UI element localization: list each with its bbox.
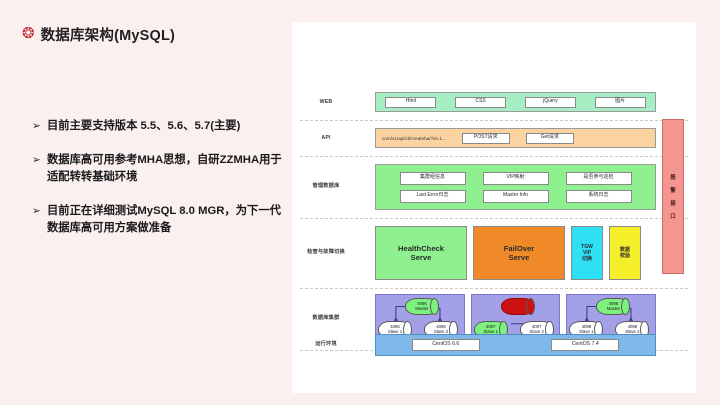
arrow-bullet-icon: ➢ (32, 203, 47, 219)
admin-db-layer-band: 集群组信息 VIP映射 是否参与巡检 Last Error日志 Master I… (375, 164, 656, 210)
service-box-data-validation: 数据 校验 (609, 226, 641, 280)
diagram-row-web: WEB Html CSS jQuery 图片 (292, 92, 696, 112)
arrow-bullet-icon: ➢ (32, 118, 47, 134)
admin-chip-system-log: 系统日志 (566, 190, 632, 203)
diagram-row-runtime-env: 运行环境 CentOS 6.6 CentOS 7.4 (292, 334, 696, 356)
row-divider (300, 288, 688, 289)
list-item: ➢ 目前主要支持版本 5.5、5.6、5.7(主要) (32, 118, 282, 135)
alarm-interface-bar: 报 警 接 口 (662, 119, 684, 274)
alarm-bar-char: 警 (670, 186, 675, 194)
admin-chip-last-error-log: Last Error日志 (400, 190, 466, 203)
arrow-bullet-icon: ➢ (32, 152, 47, 168)
service-label-line2: Serve (509, 253, 530, 262)
row-divider (300, 120, 688, 121)
row-label-db-cluster: 数据库集群 (302, 314, 350, 321)
diagram-row-check-failover: 检查与故障切换 HealthCheck Serve FailOver Serve… (292, 226, 696, 280)
red-flower-bullet-icon: ❂ (22, 26, 35, 41)
service-label-line3: 切换 (582, 256, 592, 262)
list-item: ➢ 数据库高可用参考MHA思想，自研ZZMHA用于适配转转基础环境 (32, 152, 282, 186)
db-node-role: Master (607, 307, 620, 312)
db-node-master: 4096 Master (405, 298, 439, 315)
web-layer-band: Html CSS jQuery 图片 (375, 92, 656, 112)
page-title-text: 数据库架构(MySQL) (41, 24, 176, 45)
row-label-check-failover: 检查与故障切换 (302, 248, 350, 255)
service-box-tgw-vip-switch: TGW VIP 切换 (571, 226, 603, 280)
admin-chip-cluster-info: 集群组信息 (400, 172, 466, 185)
row-label-web: WEB (302, 99, 350, 105)
admin-chip-master-info: Master Info (483, 190, 549, 203)
api-chip-post: POST请求 (462, 133, 510, 144)
list-item-text: 目前主要支持版本 5.5、5.6、5.7(主要) (47, 118, 240, 135)
web-chip-css: CSS (455, 97, 506, 108)
service-label-line2: Serve (411, 253, 432, 262)
db-node-master: 4098 Master (596, 298, 630, 315)
service-label-line2: 校验 (620, 253, 630, 259)
row-divider (300, 156, 688, 157)
service-label-line1: FailOver (504, 244, 534, 253)
service-box-failover: FailOver Serve (473, 226, 565, 280)
web-chip-jquery: jQuery (525, 97, 576, 108)
row-label-admin-db: 管理数据库 (302, 182, 350, 189)
row-label-runtime-env: 运行环境 (302, 340, 350, 347)
alarm-bar-char: 报 (670, 173, 675, 181)
diagram-row-admin-db: 管理数据库 集群组信息 VIP映射 是否参与巡检 Last Error日志 Ma… (292, 164, 696, 210)
bullet-list: ➢ 目前主要支持版本 5.5、5.6、5.7(主要) ➢ 数据库高可用参考MHA… (32, 118, 282, 254)
row-label-api: API (302, 135, 350, 141)
db-node-role: Master (511, 307, 524, 312)
db-node-role: Master (415, 307, 428, 312)
service-box-healthcheck: HealthCheck Serve (375, 226, 467, 280)
diagram-row-api: API com/v1/api/ctl/createha/?id=1... POS… (292, 128, 696, 148)
list-item-text: 目前正在详细测试MySQL 8.0 MGR，为下一代数据库高可用方案做准备 (47, 203, 282, 237)
list-item: ➢ 目前正在详细测试MySQL 8.0 MGR，为下一代数据库高可用方案做准备 (32, 203, 282, 237)
web-chip-html: Html (385, 97, 436, 108)
alarm-bar-char: 接 (670, 199, 675, 207)
api-chip-get: Get请求 (526, 133, 574, 144)
page-title: ❂ 数据库架构(MySQL) (22, 24, 175, 45)
alarm-bar-char: 口 (670, 212, 675, 220)
row-divider (300, 218, 688, 219)
admin-chip-inspection: 是否参与巡检 (566, 172, 632, 185)
admin-chip-vip-mapping: VIP映射 (483, 172, 549, 185)
web-chip-image: 图片 (595, 97, 646, 108)
db-node-master: 4097 Master (501, 298, 535, 315)
runtime-env-band: CentOS 6.6 CentOS 7.4 (375, 334, 656, 356)
list-item-text: 数据库高可用参考MHA思想，自研ZZMHA用于适配转转基础环境 (47, 152, 282, 186)
api-url-text: com/v1/api/ctl/createha/?id=1... (382, 136, 446, 141)
api-layer-band: com/v1/api/ctl/createha/?id=1... POST请求 … (375, 128, 656, 148)
service-label-line1: HealthCheck (398, 244, 444, 253)
env-chip-centos66: CentOS 6.6 (412, 339, 480, 351)
env-chip-centos74: CentOS 7.4 (551, 339, 619, 351)
architecture-diagram: WEB Html CSS jQuery 图片 API com/v1/api/ct… (292, 22, 696, 393)
